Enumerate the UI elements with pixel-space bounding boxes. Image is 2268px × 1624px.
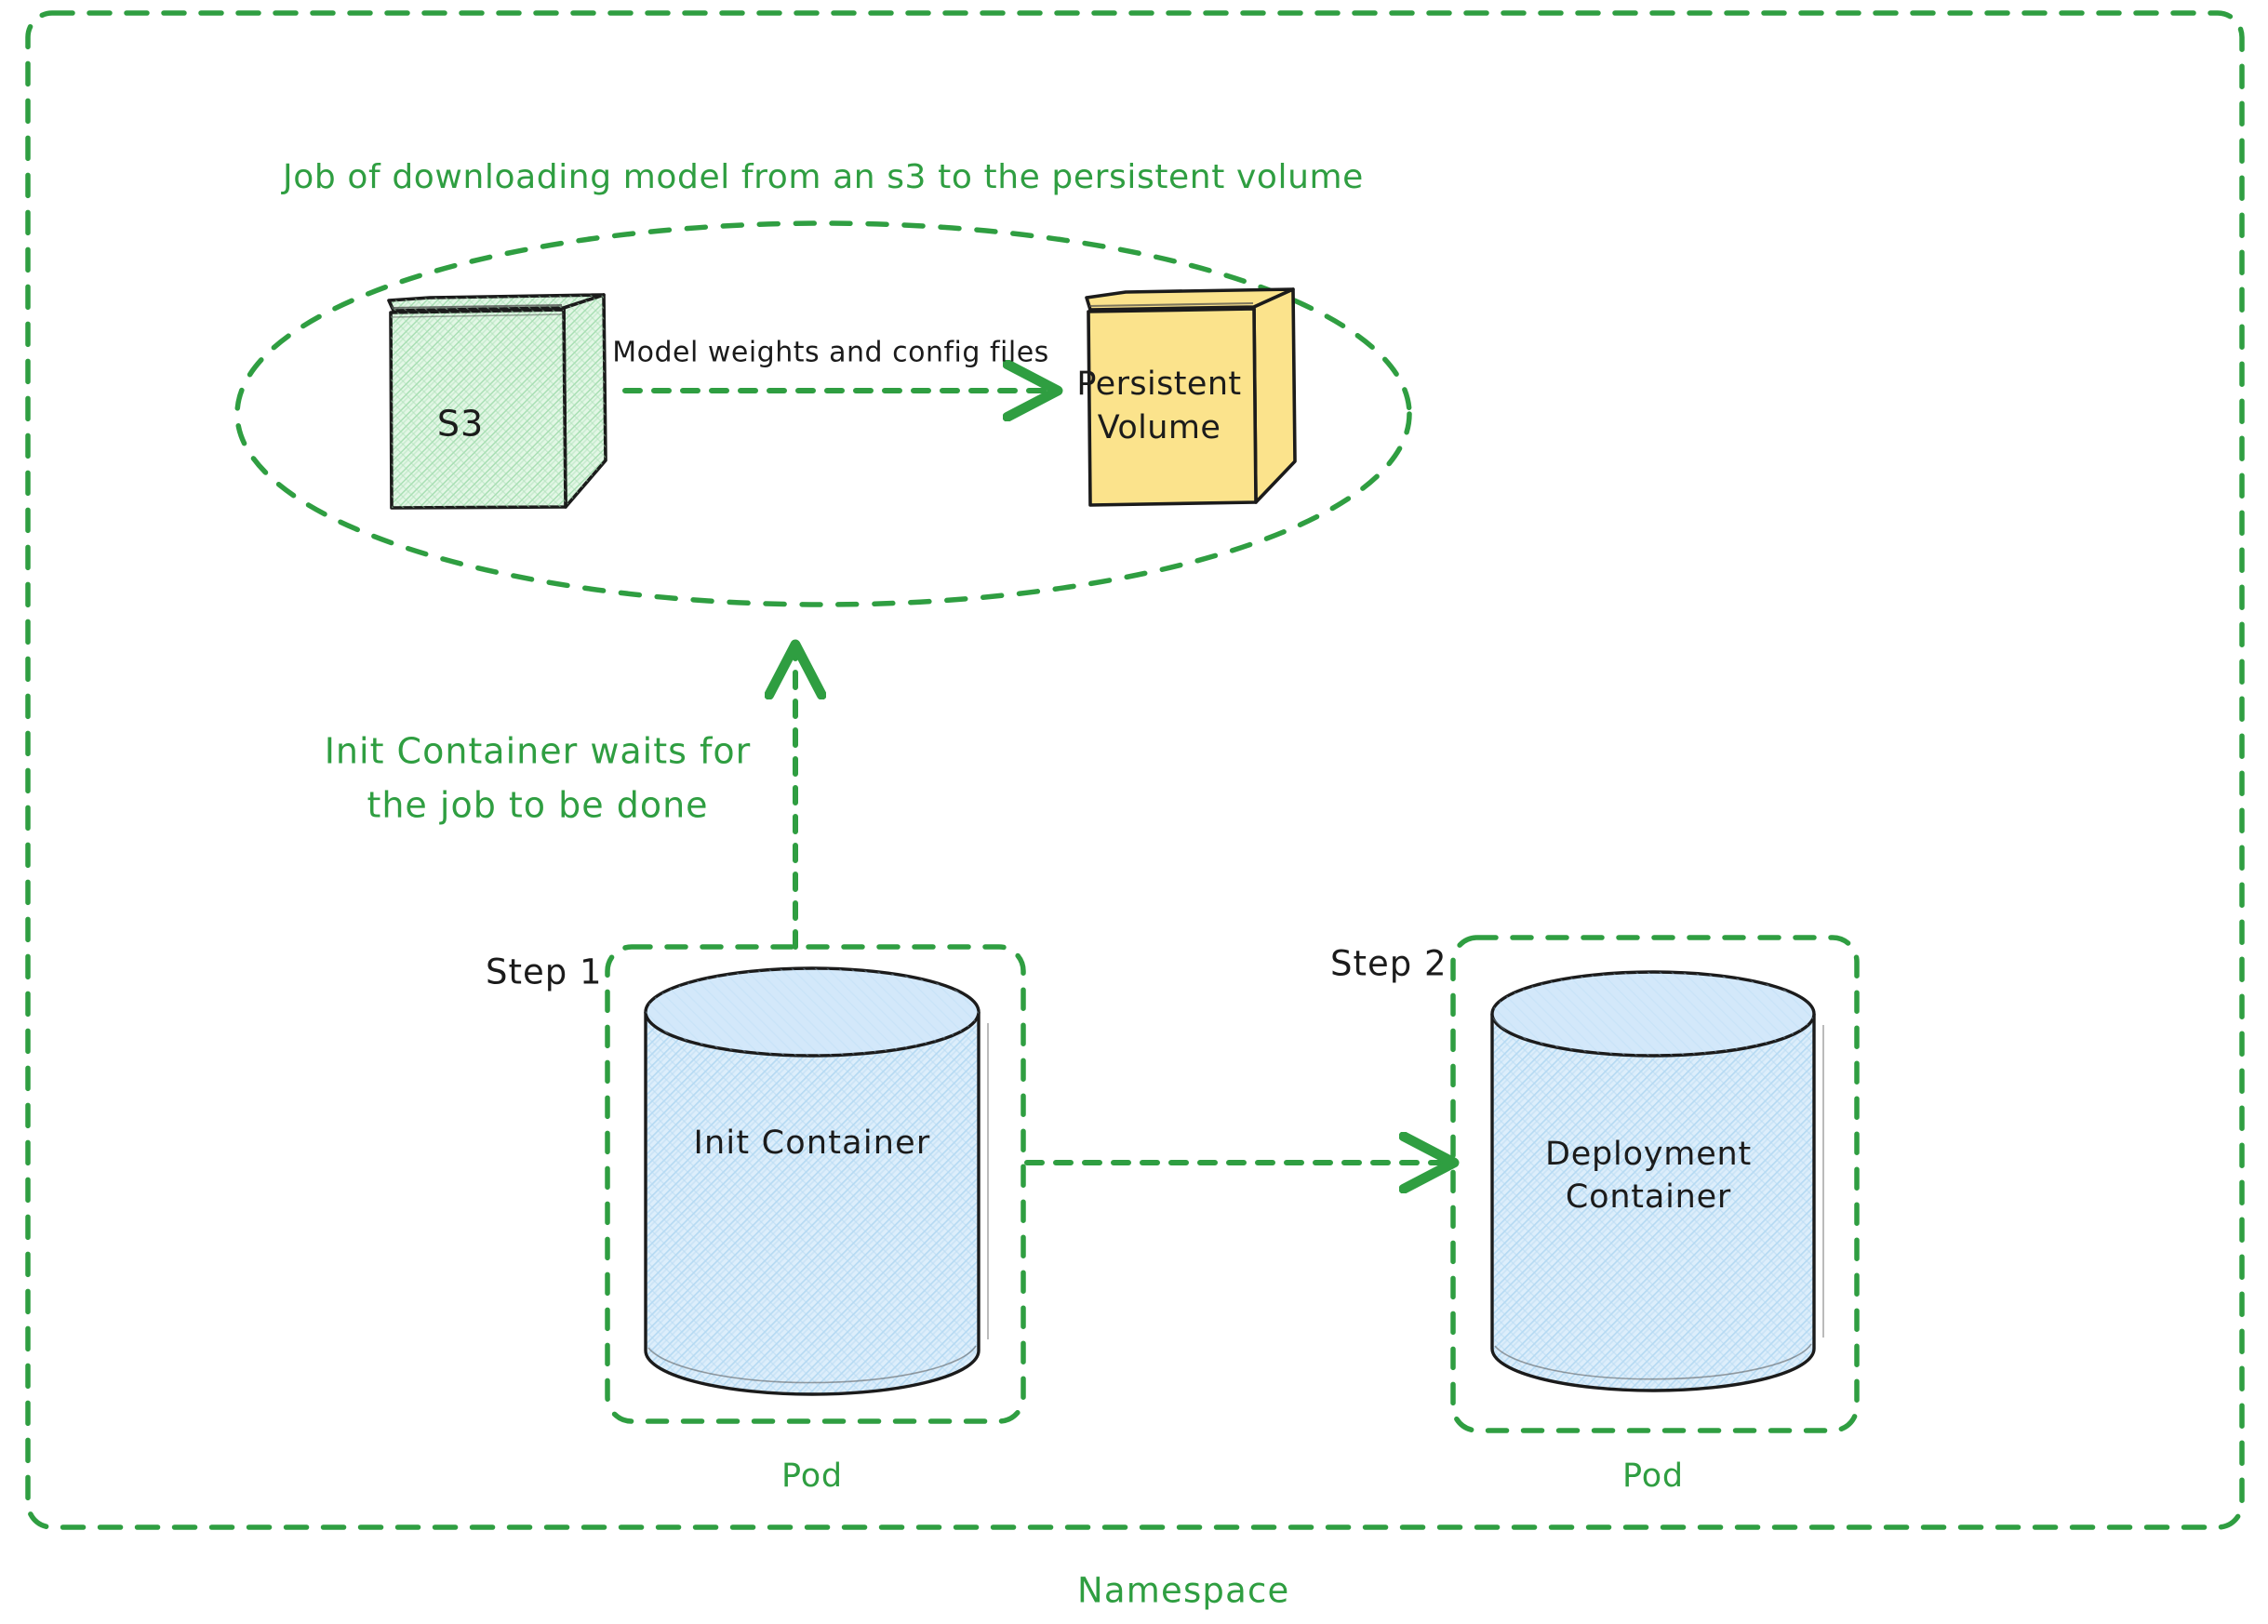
model-transfer-edge-label: Model weights and config files — [612, 337, 1049, 369]
persistent-volume-cube: Persistent Volume — [1076, 289, 1295, 505]
s3-cube: S3 — [389, 295, 606, 508]
persistent-volume-label-line2: Volume — [1098, 409, 1221, 446]
deployment-container-cylinder: Deployment Container — [1492, 972, 1823, 1391]
namespace-label: Namespace — [1077, 1571, 1290, 1611]
diagram-canvas: Namespace Job of downloading model from … — [0, 0, 2268, 1624]
init-container-wait-label-line2: the job to be done — [367, 785, 708, 826]
pod-2-label: Pod — [1622, 1458, 1684, 1495]
init-container-cylinder: Init Container — [646, 968, 988, 1394]
init-container-wait-label-line1: Init Container waits for — [325, 731, 752, 772]
init-container-label: Init Container — [694, 1125, 931, 1162]
pod-1-label: Pod — [781, 1458, 843, 1495]
pod-2[interactable]: Step 2 Deployment Container Pod — [1330, 938, 1857, 1495]
pod-1[interactable]: Step 1 Init Container Pod — [486, 947, 1023, 1495]
pod-1-step-label: Step 1 — [486, 952, 603, 992]
job-group-title: Job of downloading model from an s3 to t… — [281, 158, 1364, 196]
deployment-container-label-line2: Container — [1566, 1178, 1731, 1216]
deployment-container-label-line1: Deployment — [1545, 1136, 1752, 1173]
pod-2-step-label: Step 2 — [1330, 944, 1448, 984]
diagram-svg: Namespace Job of downloading model from … — [0, 0, 2268, 1624]
persistent-volume-label-line1: Persistent — [1076, 366, 1241, 403]
s3-label: S3 — [437, 404, 484, 445]
model-transfer-edge: Model weights and config files — [612, 337, 1051, 392]
